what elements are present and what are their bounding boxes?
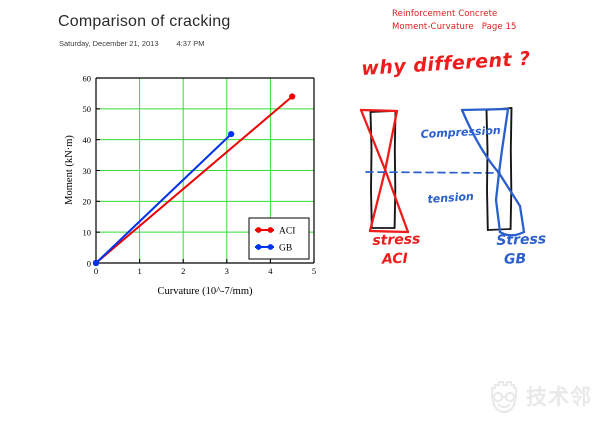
x-axis-label: Curvature (10^-7/mm) (157, 286, 253, 297)
y-tick-label: 50 (83, 104, 92, 114)
watermark-text: 技术邻 (526, 387, 592, 408)
y-axis-label: Moment (kN·m) (64, 135, 75, 205)
gb-compression-curve (462, 110, 499, 173)
legend-label-gb: GB (279, 244, 292, 254)
x-tick-label: 3 (225, 266, 229, 276)
x-tick-label: 2 (181, 266, 185, 276)
y-tick-label: 10 (83, 228, 92, 238)
y-tick-label: 0 (87, 258, 91, 268)
label-stress-gb: Stress GB (496, 230, 547, 270)
page-timestamp: Saturday, December 21, 20134:37 PM (59, 39, 204, 48)
page-title: Comparison of cracking (58, 13, 230, 31)
aci-beam-right-edge (395, 111, 396, 228)
y-axis-tick-labels: 0102030405060 (83, 73, 92, 268)
gb-tension-left-edge (496, 173, 500, 232)
gb-compression-inner-edge (499, 109, 508, 173)
x-axis-tick-labels: 012345 (94, 266, 316, 276)
aci-stress-diagram (361, 110, 408, 232)
label-stress-gb-line1: Stress (496, 231, 546, 249)
chart-canvas: 0102030405060 012345 ACIGB Curvature (10… (60, 70, 350, 305)
label-stress-gb-line2: GB (504, 249, 547, 269)
y-tick-label: 60 (83, 73, 92, 83)
x-tick-label: 5 (312, 266, 316, 276)
label-stress-aci-line2: ACI (382, 249, 422, 269)
chart-legend[interactable]: ACIGB (249, 218, 309, 259)
label-stress-aci: stress ACI (372, 230, 421, 270)
gear-face-icon (487, 379, 521, 415)
gb-beam-right-edge (511, 108, 512, 229)
label-stress-aci-line1: stress (372, 231, 421, 249)
aci-stress-right-diagonal (370, 111, 397, 231)
aci-beam-left-edge (371, 112, 372, 228)
handwritten-annotation-layer: Reinforcement Concrete Moment-CurvatureP… (350, 0, 600, 300)
y-tick-label: 40 (83, 135, 92, 145)
legend-label-aci: ACI (279, 227, 295, 237)
gb-compression-top (462, 109, 508, 110)
page-time: 4:37 PM (177, 39, 205, 48)
x-tick-label: 4 (268, 266, 273, 276)
y-tick-label: 20 (83, 197, 92, 207)
aci-compression-top (361, 110, 397, 111)
y-tick-label: 30 (83, 166, 92, 176)
x-tick-label: 0 (94, 266, 98, 276)
watermark: 技术邻 (487, 377, 595, 417)
page-date: Saturday, December 21, 2013 (59, 39, 159, 48)
moment-curvature-chart: 0102030405060 012345 ACIGB Curvature (10… (60, 70, 350, 305)
x-tick-label: 1 (137, 266, 141, 276)
